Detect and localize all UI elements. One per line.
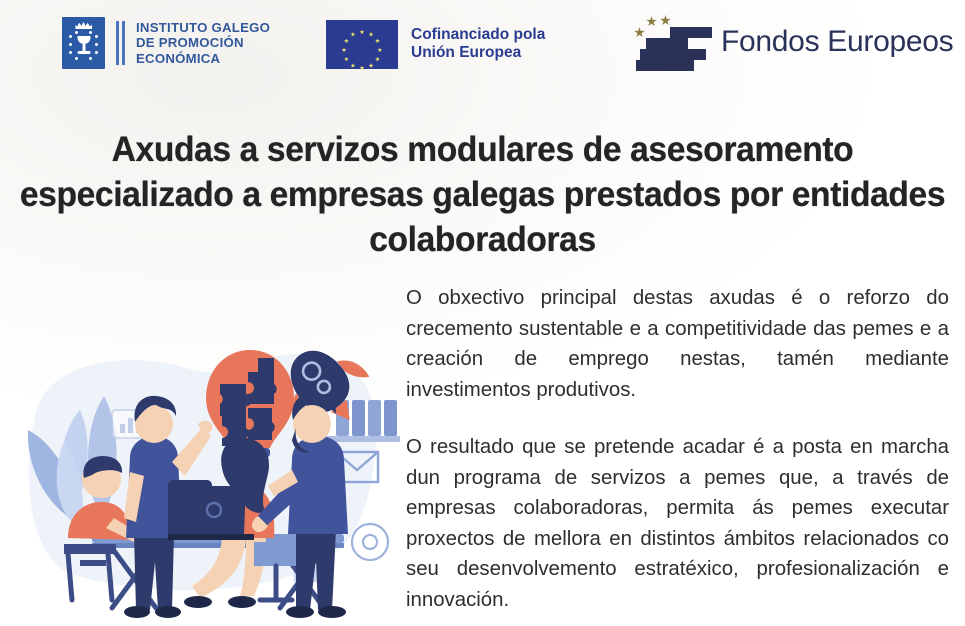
poster-page: INSTITUTO GALEGO DE PROMOCIÓN ECONÓMICA … [0, 0, 965, 626]
crown-shape [75, 22, 92, 29]
paragraph-1: O obxectivo principal destas axudas é o … [406, 283, 949, 405]
logo-fondos-label: Fondos Europeos [721, 25, 953, 59]
logo-eu-label: Cofinanciado pola Unión Europea [411, 26, 545, 63]
page-title: Axudas a servizos modulares de asesorame… [19, 127, 945, 262]
logo-igape-label: INSTITUTO GALEGO DE PROMOCIÓN ECONÓMICA [136, 20, 270, 66]
logo-bar: INSTITUTO GALEGO DE PROMOCIÓN ECONÓMICA … [0, 0, 965, 86]
paragraph-2: O resultado que se pretende acadar é a p… [406, 432, 949, 615]
logo-igape: INSTITUTO GALEGO DE PROMOCIÓN ECONÓMICA [62, 14, 270, 72]
eu-flag-icon [326, 20, 398, 69]
team-collaboration-illustration [8, 292, 400, 622]
chalice-shape [75, 36, 92, 56]
logo-divider [116, 21, 125, 65]
logo-fondos-europeos: Fondos Europeos [620, 10, 953, 74]
fondos-europeos-logomark-icon [620, 11, 712, 73]
galicia-coat-of-arms-icon [62, 17, 105, 69]
logo-european-union: Cofinanciado pola Unión Europea [326, 18, 545, 70]
body-text: O obxectivo principal destas axudas é o … [406, 283, 949, 615]
